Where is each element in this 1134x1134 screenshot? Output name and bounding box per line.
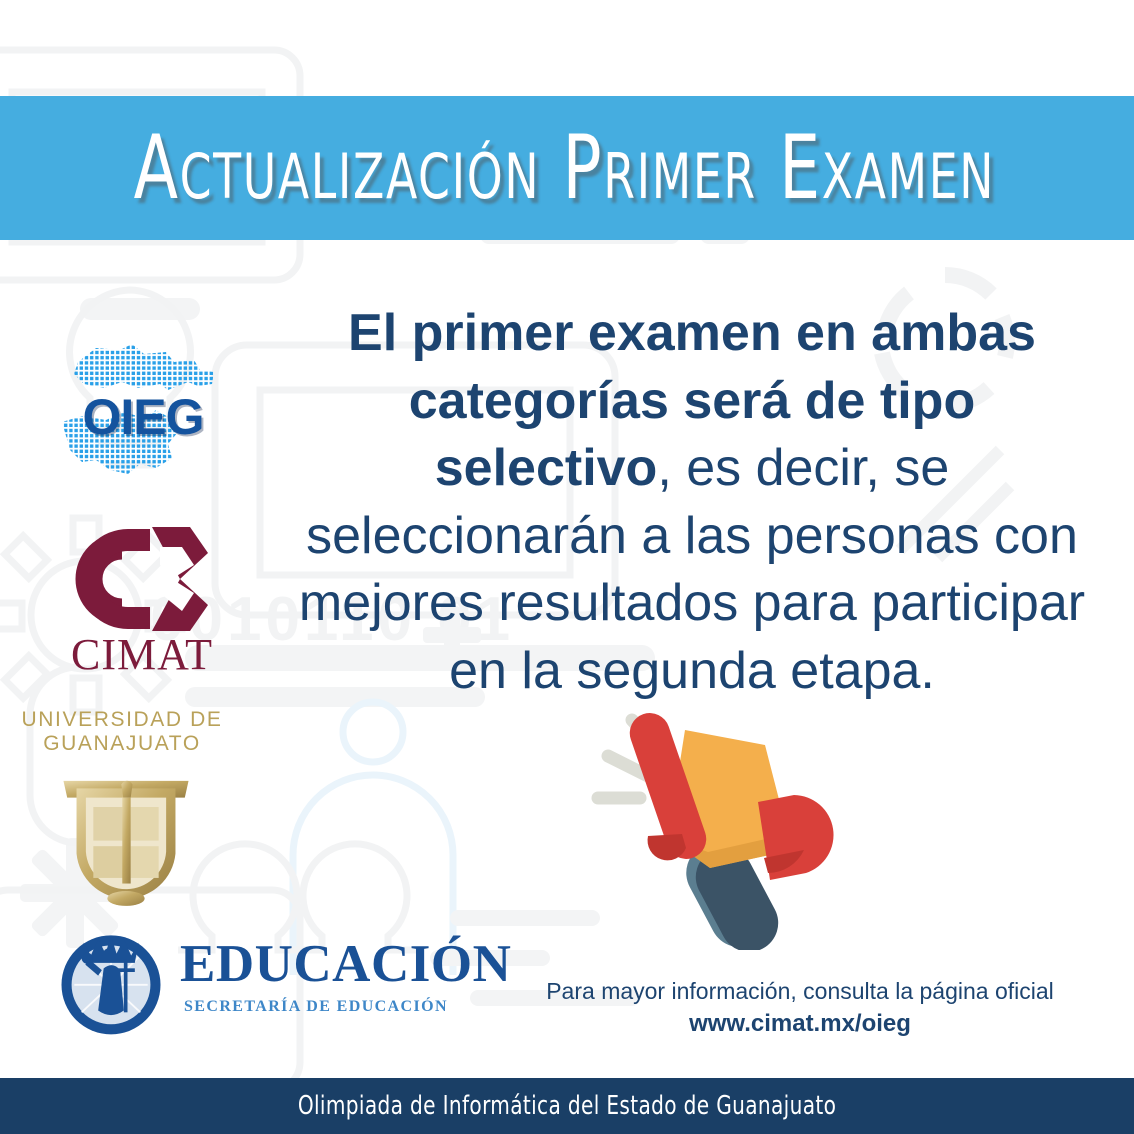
logo-column: OIEG CIMAT UNIVERSIDAD DE GUANAJUATO bbox=[0, 320, 290, 1080]
footnote: Para mayor información, consulta la pági… bbox=[500, 975, 1100, 1041]
footer-text-inner: Olimpiada de Informática del Estado de G… bbox=[298, 1091, 836, 1121]
footnote-url[interactable]: www.cimat.mx/oieg bbox=[500, 1007, 1100, 1041]
cimat-wordmark: CIMAT bbox=[52, 629, 232, 680]
cimat-logo: CIMAT bbox=[52, 515, 232, 680]
educacion-subtitle: SECRETARÍA DE EDUCACIÓN bbox=[184, 998, 448, 1016]
cimat-emblem-icon bbox=[56, 515, 236, 645]
main-paragraph-rest: , es decir, se seleccionarán a las perso… bbox=[299, 439, 1085, 700]
footer-bar: Olimpiada de Informática del Estado de G… bbox=[0, 1078, 1134, 1134]
page-title-text: Actualización Primer Examen bbox=[133, 124, 995, 212]
gobierno-guanajuato-seal-icon bbox=[56, 928, 166, 1038]
header-banner: Actualización Primer Examen bbox=[0, 96, 1134, 240]
oieg-wordmark: OIEG bbox=[48, 388, 238, 446]
poster-canvas: 0010110 01 bbox=[0, 0, 1134, 1134]
ug-wordmark-line-2: GUANAJUATO bbox=[12, 732, 232, 756]
page-title: Actualización Primer Examen bbox=[0, 124, 1134, 212]
megaphone-illustration bbox=[560, 690, 870, 950]
oieg-logo: OIEG bbox=[48, 340, 238, 490]
secretaria-de-educacion-logo: EDUCACIÓN SECRETARÍA DE EDUCACIÓN bbox=[56, 920, 476, 1040]
ug-wordmark-line-1: UNIVERSIDAD DE bbox=[12, 708, 232, 732]
main-paragraph: El primer examen en ambas categorías ser… bbox=[286, 300, 1098, 706]
footer-text: Olimpiada de Informática del Estado de G… bbox=[254, 1091, 880, 1121]
footnote-line-1: Para mayor información, consulta la pági… bbox=[500, 975, 1100, 1007]
educacion-wordmark: EDUCACIÓN bbox=[180, 938, 511, 991]
universidad-de-guanajuato-logo: UNIVERSIDAD DE GUANAJUATO bbox=[12, 708, 232, 908]
ug-crest-icon bbox=[56, 760, 196, 910]
